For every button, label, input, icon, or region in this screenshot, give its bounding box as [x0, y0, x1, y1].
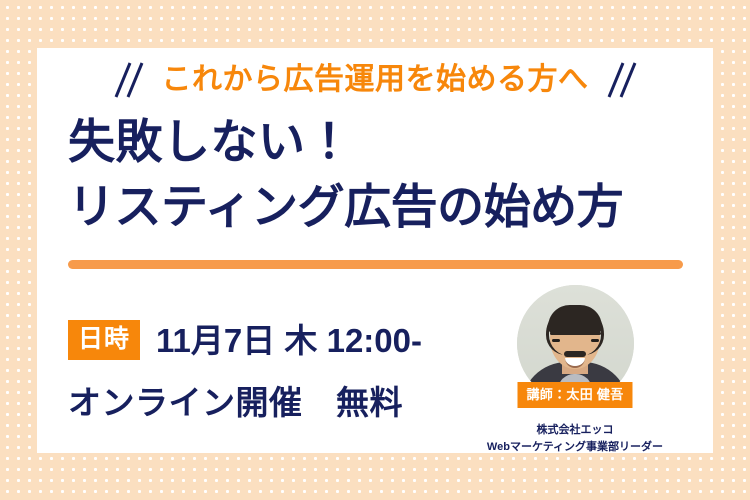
format-text: オンライン開催 無料 — [68, 386, 422, 419]
speaker-photo-wrap: 講師：太田 健吾 — [517, 285, 634, 402]
double-slash-right-icon — [603, 61, 637, 99]
kicker-text: これから広告運用を始める方へ — [162, 65, 589, 95]
event-info: 日時 11月7日 木 12:00- オンライン開催 無料 — [68, 320, 422, 419]
portrait-moustache — [564, 351, 586, 357]
headline-line-1: 失敗しない！ — [68, 110, 688, 175]
date-row: 日時 11月7日 木 12:00- — [68, 320, 422, 360]
content-card: これから広告運用を始める方へ 失敗しない！ リスティング広告の始め方 日時 11… — [37, 48, 713, 453]
speaker-name-banner: 講師：太田 健吾 — [517, 382, 632, 408]
webinar-banner: これから広告運用を始める方へ 失敗しない！ リスティング広告の始め方 日時 11… — [0, 0, 750, 500]
portrait-eye-left — [552, 339, 560, 342]
date-badge: 日時 — [68, 320, 140, 360]
portrait-eye-right — [591, 339, 599, 342]
portrait-eyebrow-left — [550, 332, 561, 335]
speaker-role: Webマーケティング事業部リーダー — [487, 439, 663, 456]
double-slash-left-icon — [114, 61, 148, 99]
headline-line-2: リスティング広告の始め方 — [68, 175, 688, 240]
speaker-block: 講師：太田 健吾 株式会社エッコ Webマーケティング事業部リーダー — [475, 285, 675, 456]
orange-divider — [68, 260, 683, 269]
date-text: 11月7日 木 12:00- — [156, 324, 422, 357]
portrait-eyebrow-right — [590, 332, 601, 335]
kicker-row: これから広告運用を始める方へ — [37, 61, 713, 99]
page-title: 失敗しない！ リスティング広告の始め方 — [68, 110, 688, 240]
speaker-company: 株式会社エッコ — [487, 422, 663, 439]
speaker-organization: 株式会社エッコ Webマーケティング事業部リーダー — [487, 422, 663, 456]
portrait-hair-sides — [546, 305, 604, 355]
